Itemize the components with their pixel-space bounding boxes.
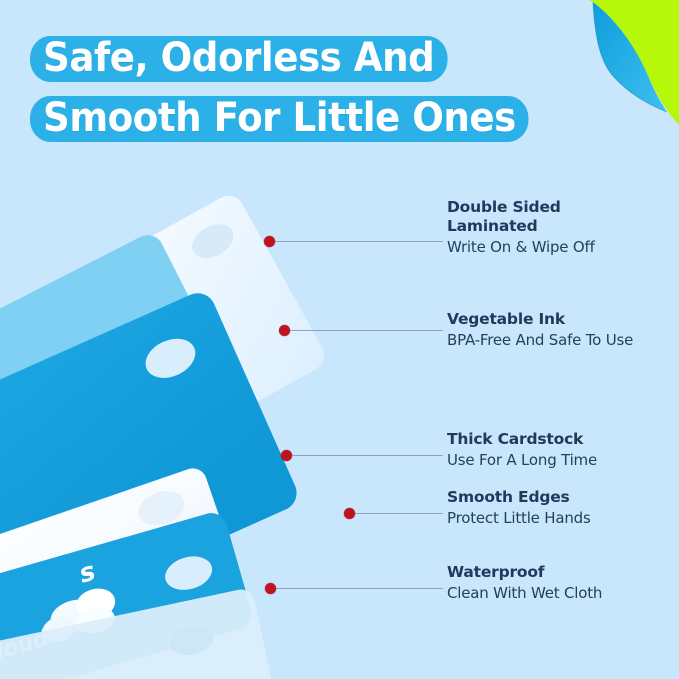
callout-subtitle: Protect Little Hands (447, 508, 591, 528)
callout-leader-line (355, 513, 443, 514)
page-curl-decoration (549, 0, 679, 140)
callout-dot[interactable] (281, 450, 292, 461)
callout-dot[interactable] (265, 583, 276, 594)
callout-leader-line (290, 330, 443, 331)
callout-leader-line (292, 455, 443, 456)
callout-subtitle: BPA-Free And Safe To Use (447, 330, 633, 350)
callout-title: Waterproof (447, 563, 602, 582)
callout-subtitle: Use For A Long Time (447, 450, 597, 470)
callout-dot[interactable] (344, 508, 355, 519)
callout-title: Double Sided Laminated (447, 198, 595, 236)
headline-line-2: Smooth For Little Ones (30, 96, 529, 142)
infographic-canvas: Safe, Odorless And Smooth For Little One… (0, 0, 679, 679)
product-card-stack: white (0, 205, 420, 665)
page-title: Safe, Odorless And Smooth For Little One… (30, 36, 560, 142)
callout-subtitle: Write On & Wipe Off (447, 237, 595, 257)
callout-title: Thick Cardstock (447, 430, 597, 449)
callout-leader-line (276, 588, 443, 589)
headline-line-1: Safe, Odorless And (30, 36, 447, 82)
callout-dot[interactable] (279, 325, 290, 336)
callout-subtitle: Clean With Wet Cloth (447, 583, 602, 603)
callout-title: Smooth Edges (447, 488, 591, 507)
callout-title: Vegetable Ink (447, 310, 633, 329)
callout-leader-line (275, 241, 443, 242)
callout-dot[interactable] (264, 236, 275, 247)
